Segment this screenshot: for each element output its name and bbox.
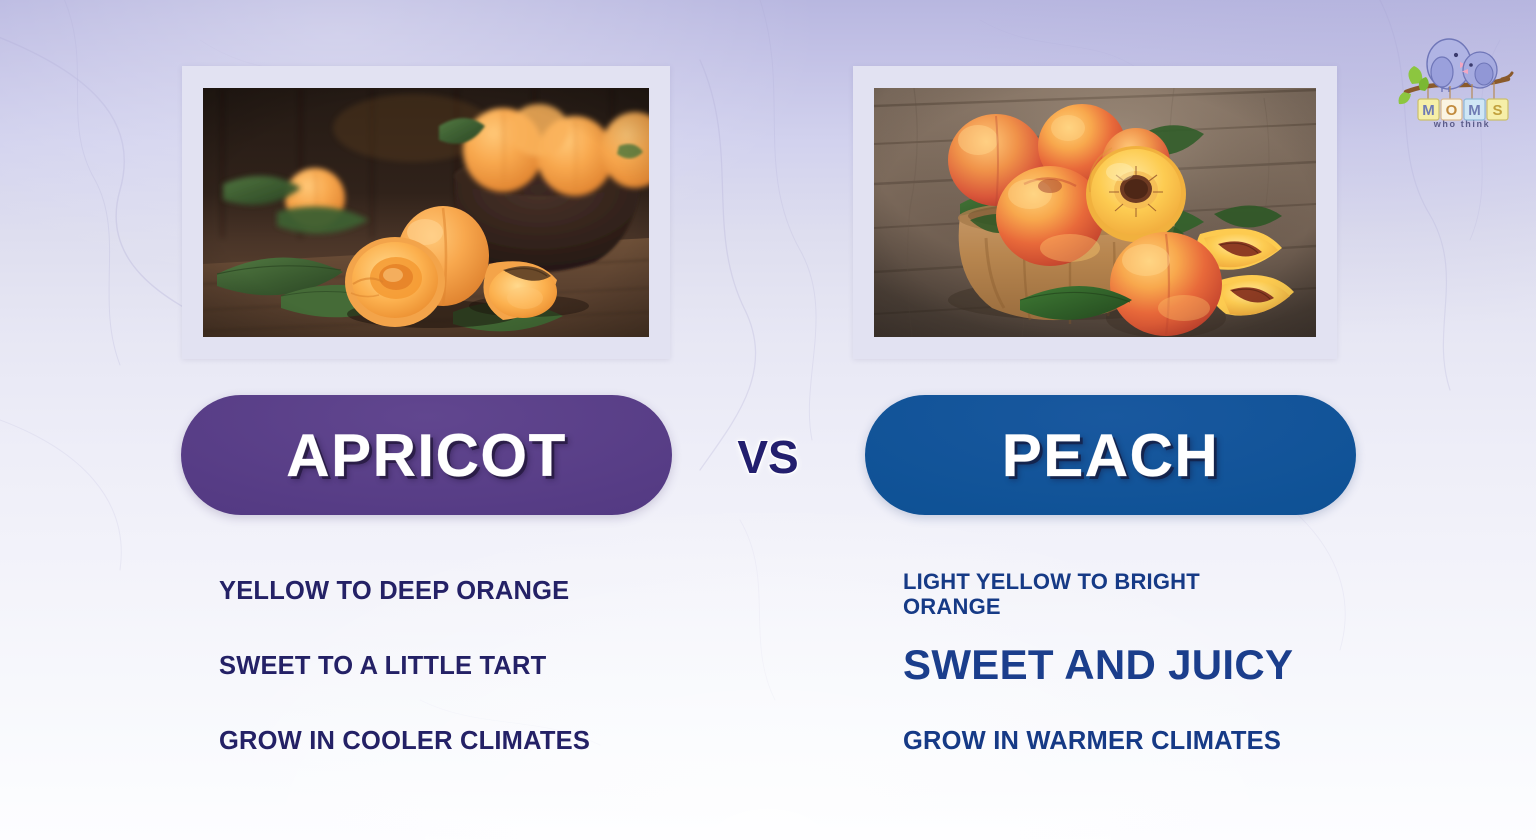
peach-photo bbox=[874, 88, 1316, 337]
svg-text:M: M bbox=[1468, 102, 1481, 119]
peach-title-label: PEACH bbox=[1002, 421, 1220, 490]
peach-feature-climate: GROW IN WARMER CLIMATES bbox=[903, 728, 1281, 755]
peach-title-pill[interactable]: PEACH bbox=[865, 395, 1356, 515]
apricot-feature-taste: SWEET TO A LITTLE TART bbox=[219, 653, 546, 680]
svg-text:O: O bbox=[1446, 102, 1458, 119]
peach-photo-frame bbox=[853, 66, 1337, 359]
infographic-canvas: APRICOT VS PEACH YELLOW TO DEEP ORANGE S… bbox=[0, 0, 1536, 840]
logo-tagline: who think bbox=[1433, 119, 1490, 129]
moms-who-think-logo[interactable]: M O M S who think bbox=[1398, 22, 1516, 130]
apricot-photo bbox=[203, 88, 649, 337]
svg-text:S: S bbox=[1492, 102, 1502, 119]
peach-feature-taste: SWEET AND JUICY bbox=[903, 643, 1293, 688]
vs-label: VS bbox=[727, 428, 809, 486]
svg-text:M: M bbox=[1422, 102, 1435, 119]
apricot-photo-frame bbox=[182, 66, 670, 359]
baby-bird-icon bbox=[1462, 52, 1497, 88]
apricot-feature-color: YELLOW TO DEEP ORANGE bbox=[219, 578, 569, 605]
leaf-icon bbox=[1399, 66, 1429, 104]
peach-feature-color: LIGHT YELLOW TO BRIGHT ORANGE bbox=[903, 570, 1263, 620]
apricot-feature-climate: GROW IN COOLER CLIMATES bbox=[219, 728, 590, 755]
apricot-title-pill[interactable]: APRICOT bbox=[181, 395, 672, 515]
apricot-title-label: APRICOT bbox=[286, 421, 567, 490]
letter-blocks: M O M S bbox=[1418, 99, 1508, 120]
